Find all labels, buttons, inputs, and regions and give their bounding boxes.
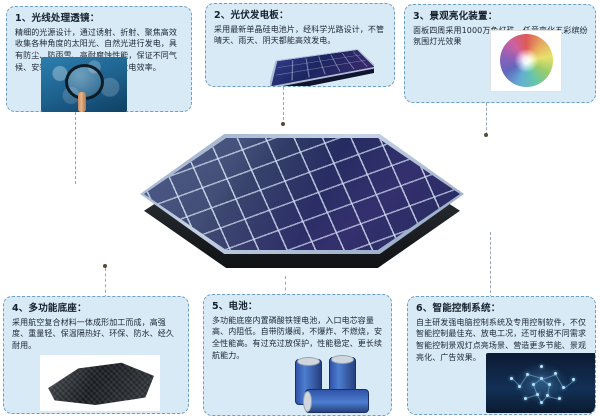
connector-panel-1 bbox=[75, 112, 76, 184]
magnifier-icon bbox=[41, 57, 127, 112]
battery-terminal bbox=[303, 391, 312, 412]
feature-title-3: 3、景观亮化装置： bbox=[413, 11, 588, 23]
feature-panel-6[interactable]: 6、智能控制系统： 自主研发强电脑控制系统及专用控制软件，不仅智能控制最佳充、放… bbox=[407, 296, 596, 415]
smart-city-network-icon bbox=[486, 353, 596, 413]
battery-cell bbox=[305, 389, 369, 413]
feature-title-2: 2、光伏发电板： bbox=[214, 10, 387, 22]
color-wheel-disc bbox=[500, 34, 553, 87]
carbon-fiber-base-icon bbox=[40, 355, 160, 411]
connector-dot-right bbox=[484, 133, 488, 137]
connector-panel-3 bbox=[486, 103, 487, 135]
battery-terminal bbox=[297, 357, 320, 366]
carbon-fiber-shell bbox=[46, 359, 154, 406]
magnifier-handle bbox=[78, 92, 86, 112]
feature-title-1: 1、光线处理透镜： bbox=[15, 13, 184, 25]
hexagonal-solar-panel-graphic bbox=[130, 112, 475, 292]
infographic-canvas: 1、光线处理透镜： 精细的光源设计，通过诱射、折射、聚焦高效收集各种角度的太阳光… bbox=[0, 0, 600, 418]
solar-module-icon bbox=[270, 42, 374, 86]
network-node bbox=[540, 365, 543, 368]
connector-panel-4 bbox=[105, 268, 106, 298]
battery-terminal bbox=[331, 355, 354, 364]
solar-module-surface bbox=[270, 49, 374, 86]
feature-body-4: 采用航空复合材料一体成形加工而成，高强度、重量轻、保温隔热好、环保、防水、经久耐… bbox=[12, 317, 181, 352]
battery-cells-icon bbox=[289, 353, 392, 415]
connector-panel-6 bbox=[490, 232, 491, 298]
connector-dot-bottom-left bbox=[103, 264, 107, 268]
feature-title-6: 6、智能控制系统： bbox=[416, 303, 588, 315]
feature-panel-4[interactable]: 4、多功能底座： 采用航空复合材料一体成形加工而成，高强度、重量轻、保温隔热好、… bbox=[3, 296, 189, 414]
color-wheel-icon bbox=[490, 30, 562, 92]
feature-panel-5[interactable]: 5、电池： 多功能底座内置磷酸铁锂电池，入口电芯容量高、内阻低。自带防爆阀，不爆… bbox=[203, 294, 392, 416]
feature-title-4: 4、多功能底座： bbox=[12, 303, 181, 315]
feature-title-5: 5、电池： bbox=[212, 301, 384, 313]
